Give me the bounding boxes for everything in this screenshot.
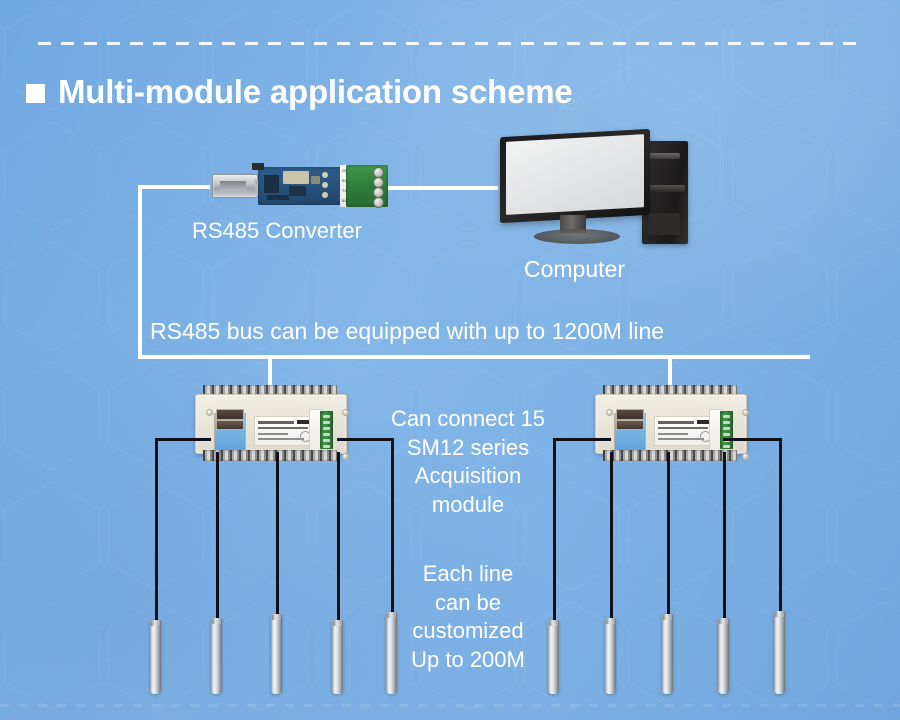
monitor-screen (506, 134, 644, 215)
temperature-probe-icon (211, 618, 222, 694)
label-line (258, 421, 294, 424)
bus-wire-main-trunk (138, 355, 810, 359)
connect-capacity-line-1: Can connect 15 (376, 405, 560, 434)
module-display-upper (616, 409, 644, 420)
sensor-cable-right-1-horizontal (553, 438, 611, 441)
desktop-computer (492, 133, 688, 253)
module-green-terminal (320, 411, 333, 449)
pcb-chip (322, 192, 328, 198)
terminal-pin (723, 421, 730, 424)
converter-caption: RS485 Converter (192, 218, 362, 244)
terminal-pin (323, 415, 330, 418)
temperature-probe-icon (271, 614, 282, 694)
label-line (258, 433, 288, 435)
temperature-probe-icon (548, 620, 559, 694)
bus-caption: RS485 bus can be equipped with up to 120… (150, 318, 664, 345)
pcb-chip (311, 176, 320, 184)
temperature-probe-icon (662, 614, 673, 694)
module-screw (206, 409, 213, 416)
sensor-cable-left-2 (216, 452, 219, 620)
sensor-cable-left-1-horizontal (155, 438, 211, 441)
sensor-cable-right-2 (610, 452, 613, 620)
pcb-chip (322, 172, 328, 178)
terminal-pin (723, 415, 730, 418)
square-bullet-icon (26, 84, 45, 103)
bus-wire-usb-segment (138, 185, 210, 189)
module-terminal-strip-bottom (603, 450, 737, 461)
label-line (658, 438, 704, 440)
module-screw (606, 409, 613, 416)
pcb-chip (267, 195, 289, 200)
pcb-chip (289, 186, 306, 196)
module-product-label (654, 416, 716, 446)
module-product-label (254, 416, 316, 446)
dashed-divider (38, 42, 864, 45)
sensor-cable-left-3 (276, 452, 279, 616)
terminal-pin (323, 433, 330, 436)
rs485-converter: GND RXD/B- TXD/A+ 5V+ (212, 163, 388, 208)
page-title: Multi-module application scheme (26, 75, 573, 108)
temperature-probe-icon (332, 620, 343, 694)
acquisition-module-left (189, 384, 351, 462)
terminal-pin (723, 427, 730, 430)
module-display-upper (216, 409, 244, 420)
cable-length-line-2: can be (388, 589, 548, 618)
terminal-pin (323, 421, 330, 424)
terminal-pin (323, 445, 330, 448)
converter-switch (252, 163, 264, 170)
temperature-probe-icon (774, 611, 785, 694)
connect-capacity-line-3: Acquisition (376, 462, 560, 491)
acquisition-module-right (589, 384, 751, 462)
terminal-pin (323, 439, 330, 442)
sensor-cable-right-3 (667, 452, 670, 616)
terminal-pin (723, 433, 730, 436)
label-line (258, 438, 304, 440)
connect-capacity-note: Can connect 15 SM12 series Acquisition m… (376, 405, 560, 519)
converter-pcb (258, 167, 350, 205)
module-display-lower (216, 420, 244, 430)
pcb-chip (322, 182, 328, 188)
module-screw (742, 409, 749, 416)
sensor-cable-right-5-horizontal (723, 438, 782, 441)
monitor-stand-base (534, 229, 620, 244)
terminal-pin (723, 445, 730, 448)
page-title-text: Multi-module application scheme (58, 75, 573, 108)
sensor-cable-right-4 (723, 452, 726, 620)
sensor-cable-left-1 (155, 438, 158, 622)
module-body (595, 394, 747, 454)
sensor-cable-left-4 (337, 452, 340, 622)
module-terminal-strip-bottom (203, 450, 337, 461)
cable-length-line-4: Up to 200M (388, 646, 548, 675)
computer-caption: Computer (524, 256, 625, 283)
application-scheme-diagram: Multi-module application scheme GND RXD/… (0, 0, 900, 720)
pcb-chip (283, 171, 309, 184)
module-display-lower (616, 420, 644, 430)
pcb-chip (264, 175, 279, 193)
bus-wire-vertical-segment (138, 185, 142, 359)
monitor-icon (500, 133, 650, 231)
module-screw (342, 409, 349, 416)
temperature-probe-icon (150, 620, 161, 694)
module-body (195, 394, 347, 454)
label-line (658, 433, 688, 435)
cable-length-line-1: Each line (388, 560, 548, 589)
connect-capacity-line-4: module (376, 491, 560, 520)
sensor-cable-right-5 (779, 438, 782, 613)
usb-connector-icon (212, 174, 258, 198)
watermark-strip (0, 694, 900, 716)
terminal-screw (373, 197, 384, 208)
module-green-terminal (720, 411, 733, 449)
cable-length-line-3: customized (388, 617, 548, 646)
connect-capacity-line-2: SM12 series (376, 434, 560, 463)
module-screw (742, 453, 749, 460)
temperature-probe-icon (605, 618, 616, 694)
converter-terminal-block (346, 165, 388, 207)
label-line (658, 427, 708, 429)
cable-length-note: Each line can be customized Up to 200M (388, 560, 548, 674)
bus-wire-to-computer (388, 186, 498, 190)
module-screw (342, 453, 349, 460)
terminal-pin (323, 427, 330, 430)
tower-drive-bay (648, 213, 680, 235)
label-line (258, 427, 308, 429)
temperature-probe-icon (718, 618, 729, 694)
label-line (658, 421, 694, 424)
